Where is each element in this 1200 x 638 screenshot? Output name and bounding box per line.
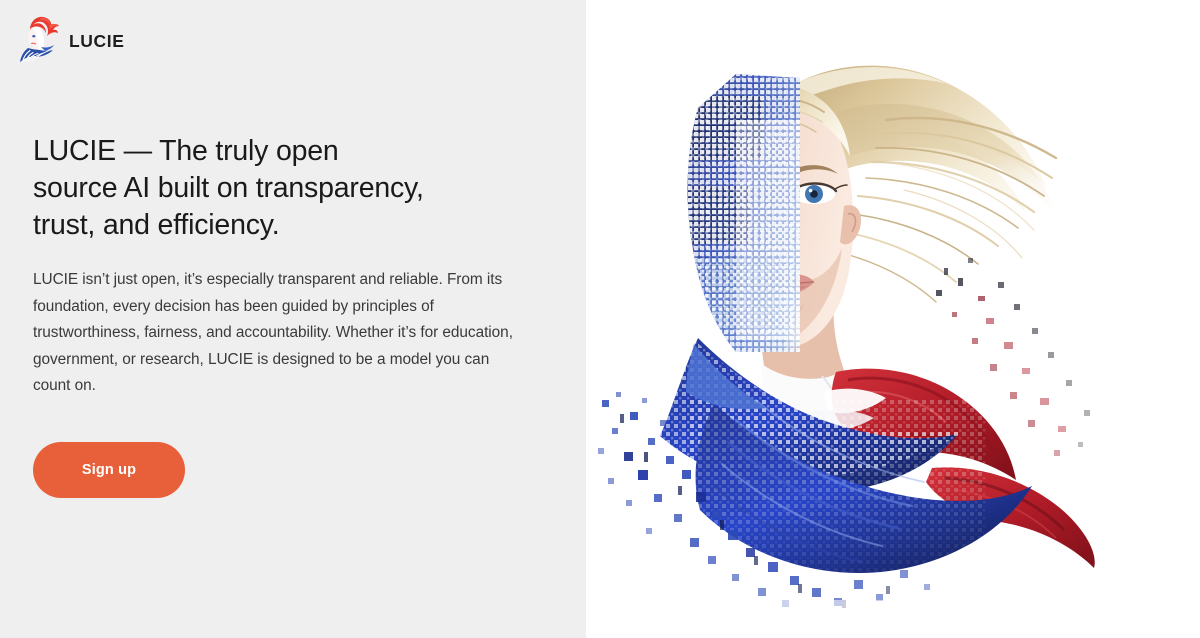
hero-text-block: LUCIE — The truly open source AI built o… <box>33 133 553 498</box>
hero-image-panel <box>586 0 1200 638</box>
landing-page: LUCIE LUCIE — The truly open source AI b… <box>0 0 1200 638</box>
left-content-panel: LUCIE LUCIE — The truly open source AI b… <box>0 0 586 638</box>
digital-portrait-illustration <box>586 0 1200 638</box>
brand-wordmark: LUCIE <box>69 31 125 51</box>
page-title: LUCIE — The truly open source AI built o… <box>33 133 453 244</box>
marianne-profile-logo-icon <box>18 14 60 68</box>
hero-description: LUCIE isn’t just open, it’s especially t… <box>33 267 525 400</box>
brand-logo-lockup[interactable]: LUCIE <box>18 14 125 68</box>
sign-up-button[interactable]: Sign up <box>33 442 185 498</box>
